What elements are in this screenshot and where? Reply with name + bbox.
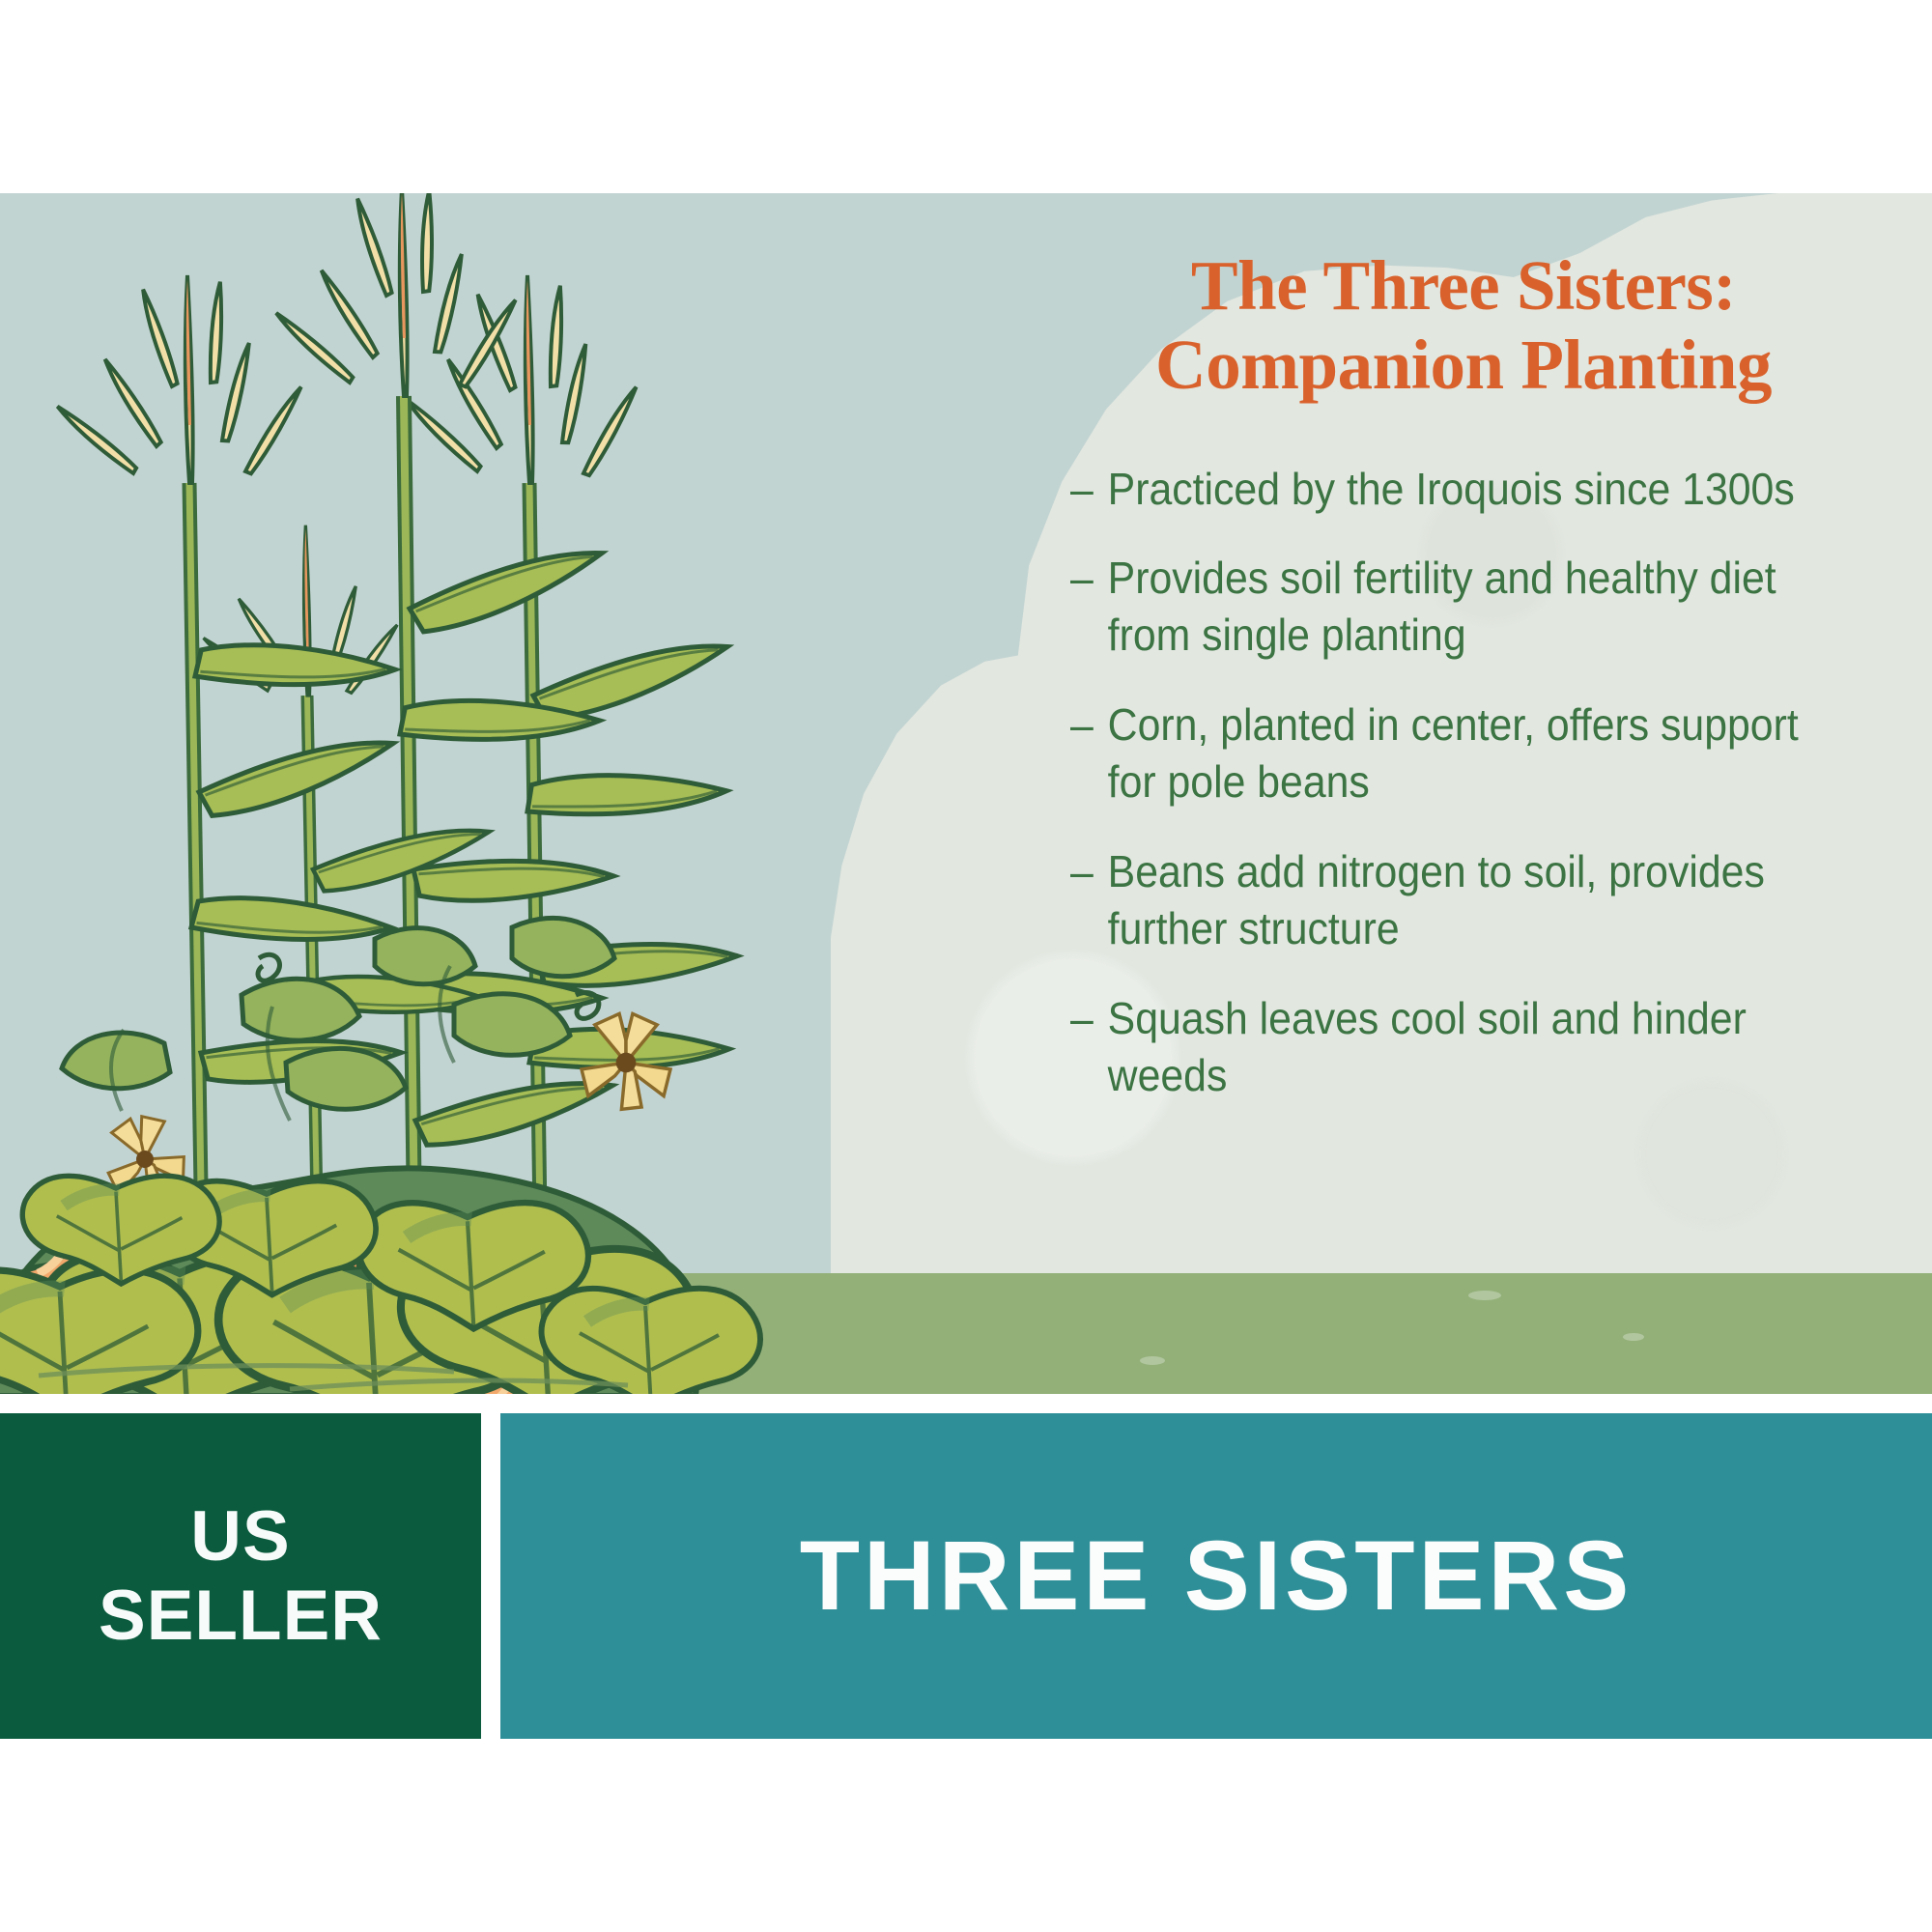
headline-line-1: The Three Sisters: (1191, 246, 1736, 325)
badge-label: US SELLER (99, 1497, 383, 1656)
list-item: – Squash leaves cool soil and hinder wee… (1070, 990, 1818, 1104)
headline-line-2: Companion Planting (1053, 326, 1874, 405)
badge-line-1: US (99, 1497, 383, 1577)
us-seller-badge: US SELLER (0, 1413, 481, 1739)
list-item: – Provides soil fertility and healthy di… (1070, 550, 1818, 664)
bullet-dash-icon: – (1070, 843, 1094, 900)
feature-bullet-list: – Practiced by the Iroquois since 1300s … (1053, 461, 1874, 1104)
bullet-text: Practiced by the Iroquois since 1300s (1108, 461, 1818, 518)
bullet-text: Provides soil fertility and healthy diet… (1108, 550, 1818, 664)
bullet-text: Corn, planted in center, offers support … (1108, 696, 1818, 810)
bullet-text: Beans add nitrogen to soil, provides fur… (1108, 843, 1818, 957)
product-listing-image: The Three Sisters: Companion Planting – … (0, 0, 1932, 1932)
info-text-block: The Three Sisters: Companion Planting – … (1053, 246, 1874, 1136)
bullet-text: Squash leaves cool soil and hinder weeds (1108, 990, 1818, 1104)
bullet-dash-icon: – (1070, 696, 1094, 753)
bullet-dash-icon: – (1070, 550, 1094, 607)
bullet-dash-icon: – (1070, 461, 1094, 518)
badge-line-2: SELLER (99, 1577, 383, 1656)
three-sisters-garden-illustration (0, 193, 869, 1394)
product-title-bar: THREE SISTERS (500, 1413, 1932, 1739)
page-title: The Three Sisters: Companion Planting (1053, 246, 1874, 405)
product-title: THREE SISTERS (800, 1520, 1633, 1633)
list-item: – Practiced by the Iroquois since 1300s (1070, 461, 1818, 518)
list-item: – Beans add nitrogen to soil, provides f… (1070, 843, 1818, 957)
list-item: – Corn, planted in center, offers suppor… (1070, 696, 1818, 810)
bullet-dash-icon: – (1070, 990, 1094, 1047)
